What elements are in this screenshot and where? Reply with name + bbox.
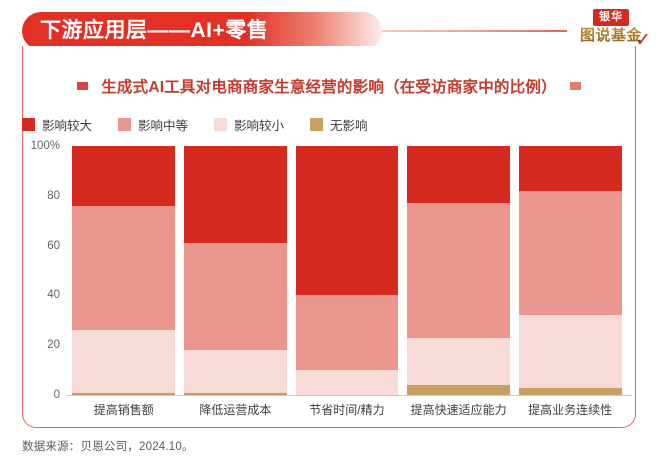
bar-column[interactable] bbox=[296, 146, 399, 395]
legend-swatch-major bbox=[22, 118, 35, 131]
legend-item-minor[interactable]: 影响较小 bbox=[214, 115, 284, 134]
chart-title: 生成式AI工具对电商商家生意经营的影响（在受访商家中的比例） bbox=[101, 75, 557, 97]
chart-title-row: 生成式AI工具对电商商家生意经营的影响（在受访商家中的比例） bbox=[22, 72, 636, 100]
square-bullet-left-icon bbox=[77, 82, 88, 90]
legend-item-medium[interactable]: 影响中等 bbox=[118, 115, 188, 134]
source-note: 数据来源：贝恩公司，2024.10。 bbox=[22, 438, 194, 454]
x-axis-label: 提高快速适应能力 bbox=[407, 401, 510, 419]
chart-legend: 影响较大 影响中等 影响较小 无影响 bbox=[22, 112, 422, 136]
legend-label-major: 影响较大 bbox=[42, 115, 92, 134]
bar-segment[interactable] bbox=[72, 330, 175, 392]
bar-segment[interactable] bbox=[296, 295, 399, 370]
check-icon: ✓ bbox=[635, 31, 651, 50]
legend-item-major[interactable]: 影响较大 bbox=[22, 115, 92, 134]
bar-segment[interactable] bbox=[296, 370, 399, 395]
x-axis-label: 提高业务连续性 bbox=[519, 401, 622, 419]
bar-segment[interactable] bbox=[407, 338, 510, 385]
bar-segment[interactable] bbox=[407, 203, 510, 337]
y-tick-40: 40 bbox=[16, 289, 60, 301]
bar-segment[interactable] bbox=[184, 393, 287, 395]
bar-segment[interactable] bbox=[296, 146, 399, 295]
y-tick-0: 0 bbox=[16, 389, 60, 401]
bar-column[interactable] bbox=[184, 146, 287, 395]
page-title: 下游应用层——AI+零售 bbox=[40, 15, 380, 47]
legend-label-minor: 影响较小 bbox=[234, 115, 284, 134]
chart-plot-area: 020406080100% 提高销售额降低运营成本节省时间/精力提高快速适应能力… bbox=[22, 146, 636, 436]
bar-segment[interactable] bbox=[72, 206, 175, 331]
square-bullet-right-icon bbox=[570, 82, 581, 90]
legend-item-none[interactable]: 无影响 bbox=[310, 115, 368, 134]
legend-swatch-medium bbox=[118, 118, 131, 131]
brand-logo: 银华 图说基金 ✓ bbox=[572, 7, 650, 49]
legend-label-medium: 影响中等 bbox=[138, 115, 188, 134]
x-axis-label: 提高销售额 bbox=[72, 401, 175, 419]
legend-swatch-none bbox=[310, 118, 323, 131]
y-tick-80: 80 bbox=[16, 190, 60, 202]
bar-segment[interactable] bbox=[184, 243, 287, 350]
bar-column[interactable] bbox=[72, 146, 175, 395]
bar-segment[interactable] bbox=[184, 350, 287, 392]
bar-segment[interactable] bbox=[519, 315, 622, 387]
y-tick-20: 20 bbox=[16, 339, 60, 351]
bar-column[interactable] bbox=[407, 146, 510, 395]
bar-segment[interactable] bbox=[72, 146, 175, 206]
bar-segment[interactable] bbox=[407, 146, 510, 203]
bar-segment[interactable] bbox=[184, 146, 287, 243]
header-divider-line bbox=[382, 30, 567, 32]
x-axis-labels: 提高销售额降低运营成本节省时间/精力提高快速适应能力提高业务连续性 bbox=[68, 401, 626, 431]
bar-segment[interactable] bbox=[519, 146, 622, 191]
bar-segment[interactable] bbox=[72, 393, 175, 395]
bar-group bbox=[68, 146, 626, 395]
y-axis: 020406080100% bbox=[22, 146, 66, 395]
legend-swatch-minor bbox=[214, 118, 227, 131]
bar-column[interactable] bbox=[519, 146, 622, 395]
legend-label-none: 无影响 bbox=[330, 115, 368, 134]
bar-segment[interactable] bbox=[407, 385, 510, 395]
y-tick-100: 100% bbox=[16, 140, 60, 152]
brand-name-badge: 银华 bbox=[593, 9, 629, 26]
x-axis-label: 节省时间/精力 bbox=[296, 401, 399, 419]
bar-segment[interactable] bbox=[519, 191, 622, 316]
y-tick-60: 60 bbox=[16, 240, 60, 252]
x-axis-label: 降低运营成本 bbox=[184, 401, 287, 419]
x-axis-line bbox=[66, 395, 632, 396]
bar-segment[interactable] bbox=[519, 388, 622, 395]
